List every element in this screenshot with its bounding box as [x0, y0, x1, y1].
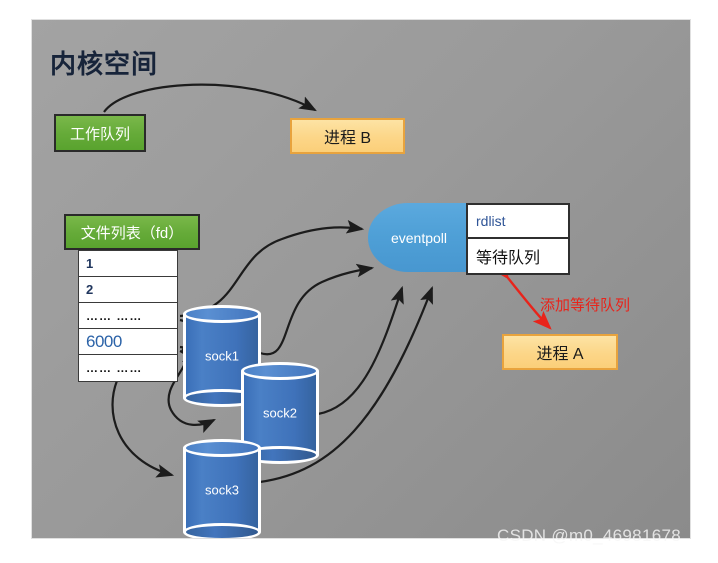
process-b-box[interactable]: 进程 B	[290, 118, 405, 154]
work-queue-label: 工作队列	[70, 123, 130, 144]
process-a-label: 进程 A	[536, 340, 583, 364]
eventpoll-fields: rdlist 等待队列	[466, 203, 570, 275]
eventpoll-node[interactable]: eventpoll	[368, 203, 470, 272]
table-row[interactable]: …… ……	[79, 303, 177, 329]
process-a-box[interactable]: 进程 A	[502, 334, 618, 370]
page-title: 内核空间	[50, 44, 158, 81]
add-wait-queue-annotation: 添加等待队列	[540, 294, 630, 315]
cylinder-bottom	[183, 523, 261, 538]
socket-label: sock3	[183, 483, 261, 498]
table-row[interactable]: 2	[79, 277, 177, 303]
csdn-watermark: CSDN @m0_46981678	[497, 526, 681, 546]
eventpoll-label: eventpoll	[391, 230, 447, 246]
cylinder-top	[183, 305, 261, 323]
work-queue-box[interactable]: 工作队列	[54, 114, 146, 152]
file-descriptor-table: 1 2 …… …… 6000 …… ……	[78, 250, 178, 382]
process-b-label: 进程 B	[324, 124, 371, 148]
socket-label: sock2	[241, 406, 319, 421]
cylinder-top	[183, 439, 261, 457]
file-list-header[interactable]: 文件列表（fd）	[64, 214, 200, 250]
cylinder-top	[241, 362, 319, 380]
table-row[interactable]: 6000	[79, 329, 177, 355]
wait-queue-field[interactable]: 等待队列	[468, 239, 568, 273]
kernel-space-canvas: 内核空间 工作队列 进程 B 文件列表（fd） 1 2 …… …… 6000 ……	[32, 20, 690, 538]
socket-cylinder-sock3[interactable]: sock3	[183, 439, 261, 538]
table-row[interactable]: …… ……	[79, 355, 177, 381]
file-list-header-label: 文件列表（fd）	[81, 222, 184, 243]
diagram-stage: 内核空间 工作队列 进程 B 文件列表（fd） 1 2 …… …… 6000 ……	[0, 0, 718, 563]
rdlist-field[interactable]: rdlist	[468, 205, 568, 239]
table-row[interactable]: 1	[79, 251, 177, 277]
socket-label: sock1	[183, 349, 261, 364]
